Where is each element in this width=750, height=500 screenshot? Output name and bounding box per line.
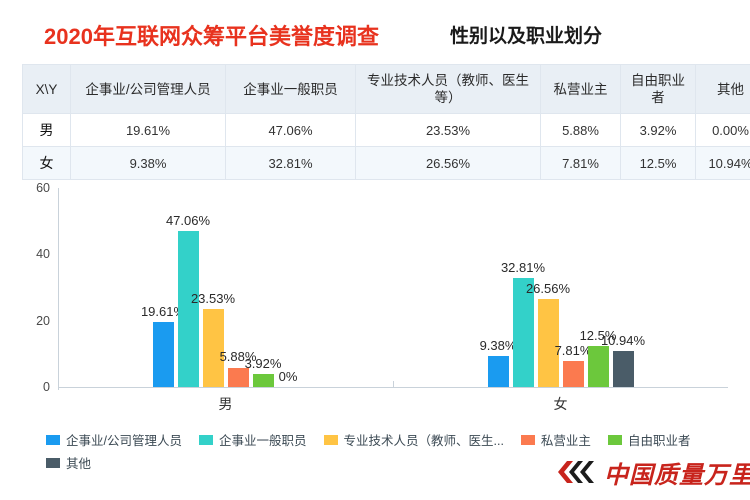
table-cell-male-0: 19.61%: [71, 114, 226, 147]
legend-label: 企事业/公司管理人员: [66, 430, 182, 449]
brand-logo: 中国质量万里行: [556, 456, 750, 488]
bar-男-企事业/公司管理人员[interactable]: [153, 322, 174, 387]
legend-swatch-icon: [608, 435, 622, 445]
y-axis-tick-20: 20: [10, 314, 50, 328]
table-corner-header: X\Y: [23, 65, 71, 114]
bar-value-label: 7.81%: [555, 343, 592, 358]
table-row-label-male: 男: [23, 114, 71, 147]
table-cell-male-4: 3.92%: [621, 114, 696, 147]
table-col-header-0: 企事业/公司管理人员: [71, 65, 226, 114]
table-cell-female-4: 12.5%: [621, 147, 696, 180]
bar-value-label: 0%: [279, 369, 298, 384]
y-axis-ticks: 0204060: [8, 188, 50, 388]
survey-data-table: X\Y 企事业/公司管理人员 企事业一般职员 专业技术人员（教师、医生等） 私营…: [22, 64, 750, 180]
legend-item-其他[interactable]: 其他: [46, 453, 91, 472]
legend-item-企事业/公司管理人员[interactable]: 企事业/公司管理人员: [46, 430, 182, 449]
legend-label: 专业技术人员（教师、医生...: [344, 430, 504, 449]
table-cell-male-2: 23.53%: [356, 114, 541, 147]
table-row: 女 9.38% 32.81% 26.56% 7.81% 12.5% 10.94%: [23, 147, 750, 180]
table-col-header-5: 其他: [696, 65, 750, 114]
legend-swatch-icon: [199, 435, 213, 445]
chart-plot-area: 19.61%47.06%23.53%5.88%3.92%0%9.38%32.81…: [58, 188, 728, 387]
bar-value-label: 9.38%: [480, 338, 517, 353]
table-col-header-2: 专业技术人员（教师、医生等）: [356, 65, 541, 114]
legend-label: 私营业主: [541, 430, 591, 449]
y-axis-tick-40: 40: [10, 247, 50, 261]
bar-chart: 0204060 19.61%47.06%23.53%5.88%3.92%0%9.…: [0, 178, 750, 423]
x-axis-label-女: 女: [554, 394, 568, 414]
table-cell-male-1: 47.06%: [226, 114, 356, 147]
table-cell-male-5: 0.00%: [696, 114, 750, 147]
legend-label: 自由职业者: [628, 430, 691, 449]
bar-女-其他[interactable]: [613, 351, 634, 387]
bar-男-企事业一般职员[interactable]: [178, 231, 199, 387]
table-col-header-4: 自由职业者: [621, 65, 696, 114]
bar-男-专业技术人员（教师、医生等）[interactable]: [203, 309, 224, 387]
page-header: 2020年互联网众筹平台美誉度调查 性别以及职业划分: [0, 0, 750, 58]
table-row: 男 19.61% 47.06% 23.53% 5.88% 3.92% 0.00%: [23, 114, 750, 147]
legend-item-专业技术人员（教师、医生等）[interactable]: 专业技术人员（教师、医生...: [324, 430, 504, 449]
legend-label: 其他: [66, 453, 91, 472]
legend-item-企事业一般职员[interactable]: 企事业一般职员: [199, 430, 307, 449]
arrow-chevron-icon: [556, 458, 600, 486]
table-cell-female-3: 7.81%: [541, 147, 621, 180]
bar-value-label: 3.92%: [245, 356, 282, 371]
table-col-header-3: 私营业主: [541, 65, 621, 114]
x-axis-group-separator: [393, 381, 394, 388]
table-cell-female-0: 9.38%: [71, 147, 226, 180]
bar-value-label: 26.56%: [526, 281, 570, 296]
bar-value-label: 32.81%: [501, 260, 545, 275]
y-axis-tick-60: 60: [10, 181, 50, 195]
y-axis-tick-0: 0: [10, 380, 50, 394]
legend-row: 企事业/公司管理人员企事业一般职员专业技术人员（教师、医生...私营业主自由职业…: [46, 430, 736, 449]
legend-item-自由职业者[interactable]: 自由职业者: [608, 430, 691, 449]
table-cell-male-3: 5.88%: [541, 114, 621, 147]
table-cell-female-1: 32.81%: [226, 147, 356, 180]
bar-value-label: 23.53%: [191, 291, 235, 306]
page-title: 2020年互联网众筹平台美誉度调查: [44, 19, 379, 51]
table-body: 男 19.61% 47.06% 23.53% 5.88% 3.92% 0.00%…: [23, 114, 750, 180]
x-axis-label-男: 男: [219, 394, 233, 414]
legend-item-私营业主[interactable]: 私营业主: [521, 430, 591, 449]
logo-text: 中国质量万里行: [604, 455, 750, 490]
legend-swatch-icon: [521, 435, 535, 445]
bar-男-自由职业者[interactable]: [253, 374, 274, 387]
legend-swatch-icon: [46, 458, 60, 468]
legend-swatch-icon: [324, 435, 338, 445]
data-table-container: X\Y 企事业/公司管理人员 企事业一般职员 专业技术人员（教师、医生等） 私营…: [22, 64, 728, 180]
table-cell-female-5: 10.94%: [696, 147, 750, 180]
table-header-row: X\Y 企事业/公司管理人员 企事业一般职员 专业技术人员（教师、医生等） 私营…: [23, 65, 750, 114]
bar-女-企事业/公司管理人员[interactable]: [488, 356, 509, 387]
table-row-label-female: 女: [23, 147, 71, 180]
table-header: X\Y 企事业/公司管理人员 企事业一般职员 专业技术人员（教师、医生等） 私营…: [23, 65, 750, 114]
bar-女-自由职业者[interactable]: [588, 346, 609, 387]
table-cell-female-2: 26.56%: [356, 147, 541, 180]
bar-女-私营业主[interactable]: [563, 361, 584, 387]
bar-value-label: 47.06%: [166, 213, 210, 228]
legend-swatch-icon: [46, 435, 60, 445]
table-col-header-1: 企事业一般职员: [226, 65, 356, 114]
bar-value-label: 10.94%: [601, 333, 645, 348]
legend-label: 企事业一般职员: [219, 430, 307, 449]
page-subtitle: 性别以及职业划分: [450, 21, 602, 48]
